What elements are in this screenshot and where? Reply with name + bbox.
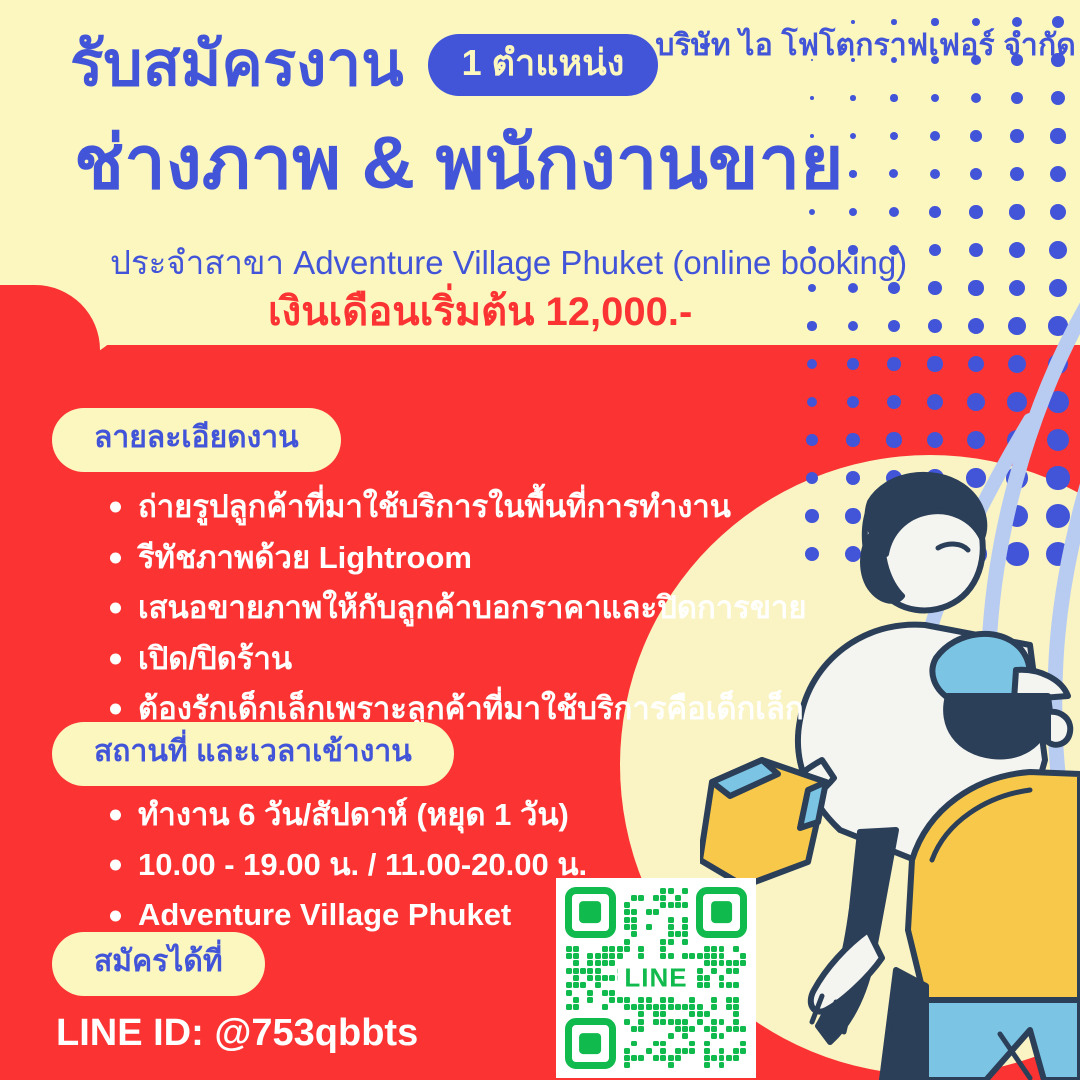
poster-root: บริษัท ไอ โฟโตกราฟเฟอร์ จำกัด รับสมัครงา… xyxy=(0,0,1080,1080)
list-item: เปิด/ปิดร้าน xyxy=(104,634,807,685)
line-qr-code[interactable]: LINE xyxy=(556,878,756,1078)
list-item: ถ่ายรูปลูกค้าที่มาใช้บริการในพื้นที่การท… xyxy=(104,482,807,533)
job-details-list: ถ่ายรูปลูกค้าที่มาใช้บริการในพื้นที่การท… xyxy=(104,482,807,735)
qr-modules: LINE xyxy=(565,887,747,1069)
list-item: รีทัชภาพด้วย Lightroom xyxy=(104,533,807,584)
qr-center-label: LINE xyxy=(617,960,694,997)
headline-primary: รับสมัครงาน xyxy=(70,34,404,96)
list-item: เสนอขายภาพให้กับลูกค้าบอกราคาและปิดการขา… xyxy=(104,583,807,634)
section-label-place-time: สถานที่ และเวลาเข้างาน xyxy=(52,722,454,786)
salary-text: เงินเดือนเริ่มต้น 12,000.- xyxy=(268,292,692,332)
headline-row: รับสมัครงาน 1 ตำแหน่ง xyxy=(70,34,658,96)
list-item: ทำงาน 6 วัน/สัปดาห์ (หยุด 1 วัน) xyxy=(104,790,587,840)
section-label-job-details: ลายละเอียดงาน xyxy=(52,408,341,472)
list-item: 10.00 - 19.00 น. / 11.00-20.00 น. xyxy=(104,840,587,890)
job-title: ช่างภาพ & พนักงานขาย xyxy=(74,126,844,200)
place-time-list: ทำงาน 6 วัน/สัปดาห์ (หยุด 1 วัน) 10.00 -… xyxy=(104,790,587,941)
position-count-badge: 1 ตำแหน่ง xyxy=(428,34,659,96)
line-id-text: LINE ID: @753qbbts xyxy=(56,1014,418,1052)
branch-subtitle: ประจำสาขา Adventure Village Phuket (onli… xyxy=(110,243,907,283)
company-name: บริษัท ไอ โฟโตกราฟเฟอร์ จำกัด xyxy=(655,22,1076,69)
section-label-apply: สมัครได้ที่ xyxy=(52,932,265,996)
